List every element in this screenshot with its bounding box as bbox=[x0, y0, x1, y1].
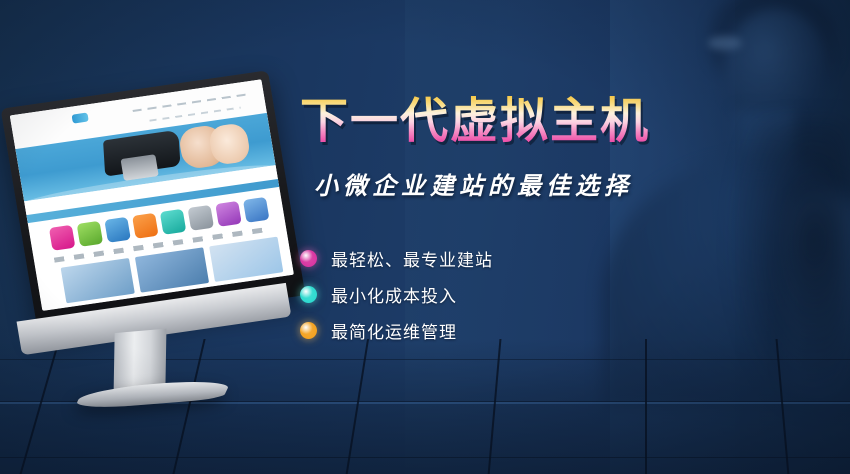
floor-horizontal-line bbox=[0, 457, 850, 458]
mockup-app-icon bbox=[188, 205, 214, 230]
mockup-app-icon bbox=[160, 209, 186, 234]
list-item: 最轻松、最专业建站 bbox=[300, 241, 720, 277]
mockup-photo bbox=[61, 258, 135, 303]
bullet-dot-cyan bbox=[300, 286, 317, 303]
person-eyeglass-glint bbox=[708, 36, 742, 50]
list-item: 最小化成本投入 bbox=[300, 277, 720, 313]
hero-banner: 下一代虚拟主机 小微企业建站的最佳选择 最轻松、最专业建站 最小化成本投入 最简… bbox=[0, 0, 850, 474]
subheadline: 小微企业建站的最佳选择 bbox=[314, 166, 720, 201]
bullet-dot-orange bbox=[300, 322, 317, 339]
feature-label: 最简化运维管理 bbox=[331, 318, 457, 343]
mockup-app-icon bbox=[105, 217, 131, 242]
mockup-photo bbox=[135, 248, 209, 293]
mockup-app-icon bbox=[132, 213, 158, 238]
mockup-photo bbox=[210, 237, 284, 282]
mockup-app-icon bbox=[215, 201, 241, 226]
headline: 下一代虚拟主机 bbox=[300, 96, 720, 148]
mockup-app-icon bbox=[49, 225, 75, 250]
website-mockup bbox=[10, 79, 294, 311]
copy-block: 下一代虚拟主机 小微企业建站的最佳选择 最轻松、最专业建站 最小化成本投入 最简… bbox=[300, 96, 720, 349]
desktop-monitor bbox=[6, 88, 296, 388]
list-item: 最简化运维管理 bbox=[300, 313, 720, 349]
bullet-dot-magenta bbox=[300, 250, 317, 267]
monitor-screen bbox=[10, 79, 294, 311]
feature-label: 最小化成本投入 bbox=[331, 282, 457, 307]
mockup-app-icon bbox=[243, 197, 269, 222]
feature-label: 最轻松、最专业建站 bbox=[331, 246, 493, 271]
mockup-app-icon bbox=[77, 221, 103, 246]
floor-vertical-line bbox=[645, 339, 647, 474]
feature-list: 最轻松、最专业建站 最小化成本投入 最简化运维管理 bbox=[300, 241, 720, 349]
